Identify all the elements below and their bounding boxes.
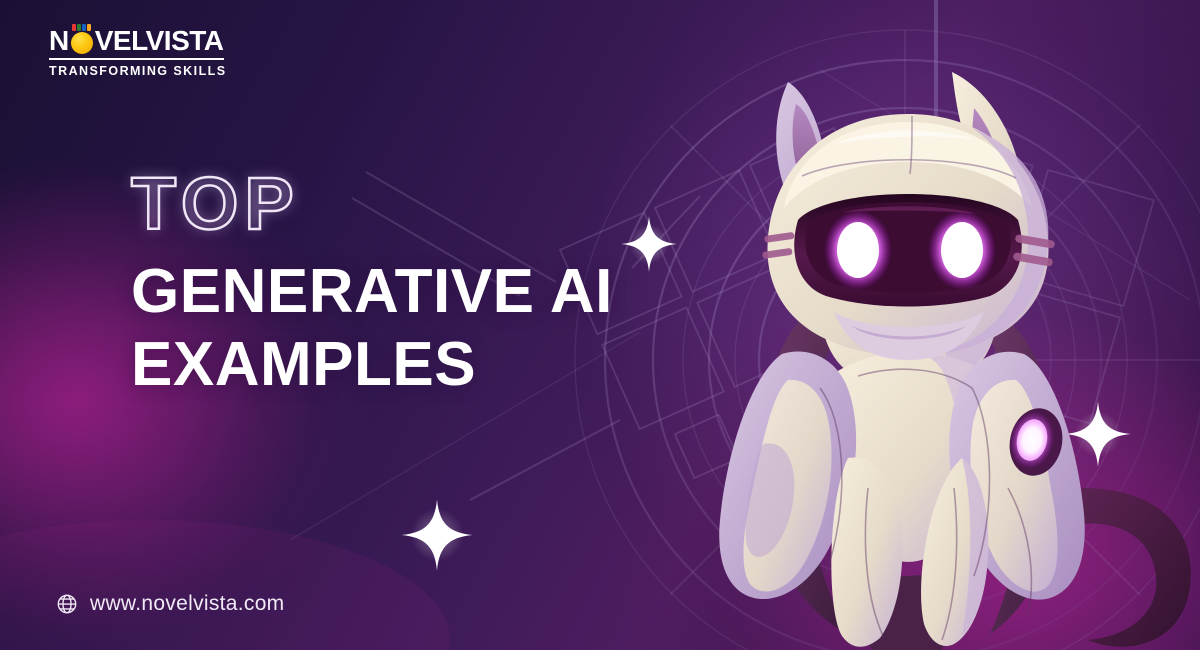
logo-tagline: TRANSFORMING SKILLS <box>49 64 224 78</box>
brand-logo[interactable]: N VELVISTA TRANSFORMING SKILLS <box>49 26 224 72</box>
sparkle-lower-left <box>400 498 474 572</box>
headline-main: GENERATIVE AI EXAMPLES <box>131 259 771 398</box>
logo-divider <box>49 58 224 60</box>
logo-orb-icon <box>69 28 95 54</box>
banner-root: N VELVISTA TRANSFORMING SKILLS TOP GENER… <box>0 0 1200 650</box>
headline-line-1: GENERATIVE AI <box>131 257 613 326</box>
logo-dots <box>72 24 93 32</box>
headline-line-2: EXAMPLES <box>131 332 771 398</box>
globe-icon <box>56 593 78 615</box>
headline-eyebrow: TOP <box>131 168 771 241</box>
website-url-text[interactable]: www.novelvista.com <box>90 592 284 616</box>
logo-text-velvista: VELVISTA <box>95 27 224 55</box>
logo-wordmark: N VELVISTA <box>49 26 224 56</box>
logo-text-n: N <box>49 27 69 55</box>
website-url-row[interactable]: www.novelvista.com <box>56 592 284 616</box>
logo-ball <box>71 32 93 54</box>
headline-block: TOP GENERATIVE AI EXAMPLES <box>131 168 771 398</box>
